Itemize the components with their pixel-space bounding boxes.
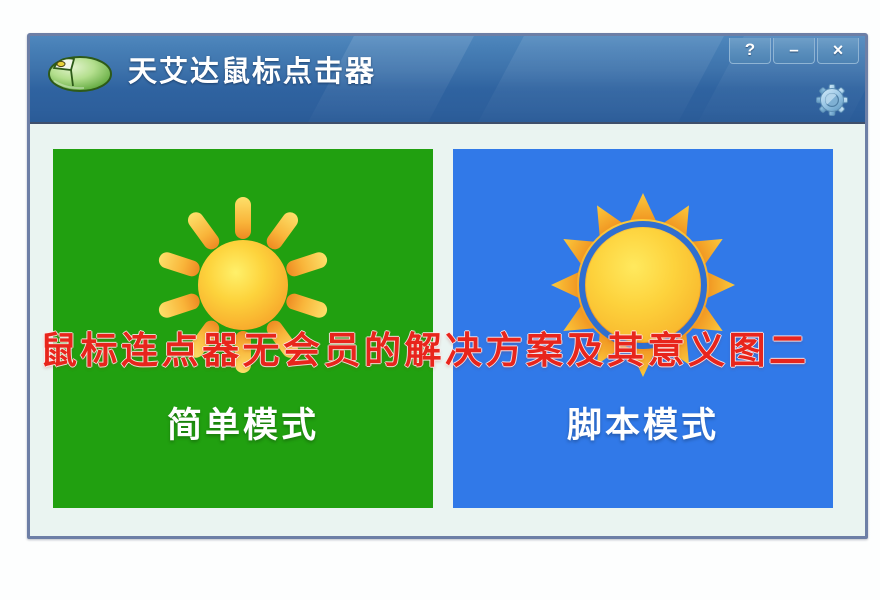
page-title: 天艾达鼠标点击器 xyxy=(128,51,376,93)
mode-panel-script-label: 脚本模式 xyxy=(453,397,833,448)
mode-panel-simple[interactable]: 简单模式 xyxy=(53,149,433,508)
mode-panel-simple-label: 简单模式 xyxy=(53,397,433,448)
green-mouse-icon xyxy=(44,50,116,94)
help-button[interactable]: ? xyxy=(729,38,771,64)
caption-button-group: ? – × xyxy=(729,38,859,64)
screen-root: 天艾达鼠标点击器 ? – × xyxy=(0,0,880,600)
application-window: 天艾达鼠标点击器 ? – × xyxy=(27,33,868,539)
mode-panel-script[interactable]: 脚本模式 xyxy=(453,149,833,508)
gear-icon[interactable] xyxy=(815,83,849,117)
mode-panel-group: 简单模式 xyxy=(30,124,865,538)
close-button[interactable]: × xyxy=(817,38,859,64)
title-bar: 天艾达鼠标点击器 ? – × xyxy=(30,36,865,124)
sun-spikes-ring-icon xyxy=(528,185,758,385)
client-area: 简单模式 xyxy=(30,124,865,538)
titlebar-sheen xyxy=(471,36,729,124)
sun-rays-icon xyxy=(128,185,358,385)
minimize-button[interactable]: – xyxy=(773,38,815,64)
